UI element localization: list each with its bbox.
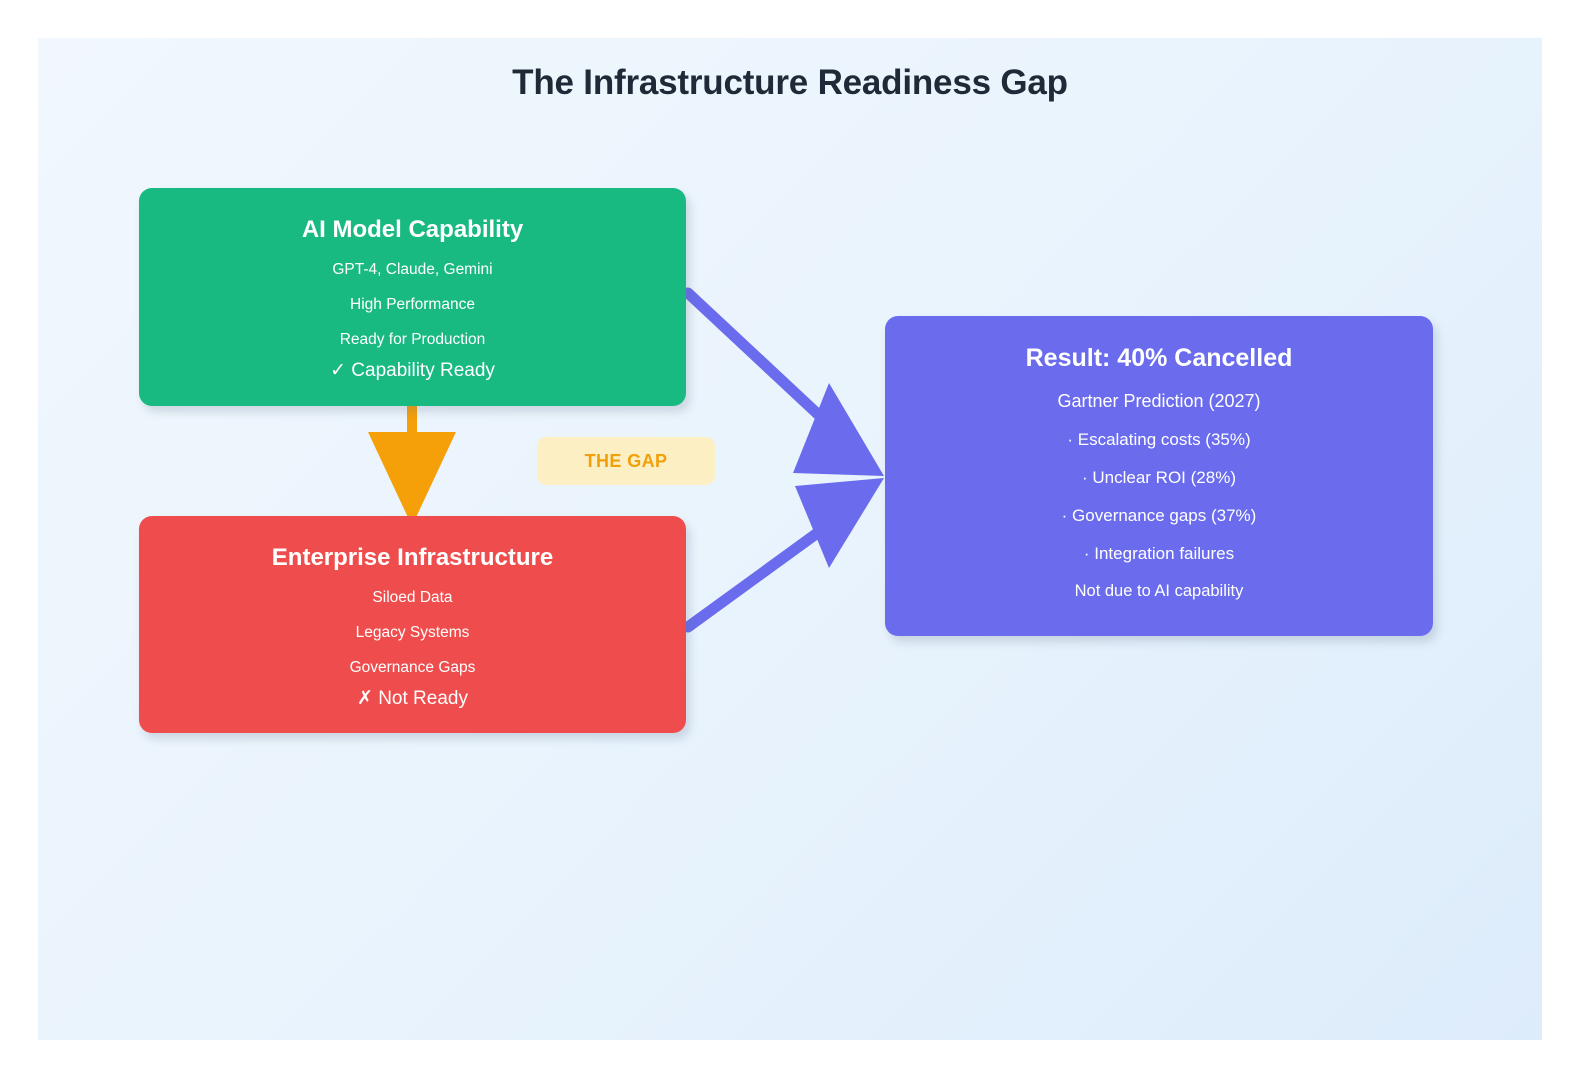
card-result-cancelled: Result: 40% Cancelled Gartner Prediction…: [885, 316, 1433, 636]
card-ai-model-capability: AI Model Capability GPT-4, Claude, Gemin…: [139, 188, 686, 406]
infrastructure-status-badge: ✗ Not Ready: [139, 687, 686, 710]
result-reason-unclear-roi: · Unclear ROI (28%): [885, 468, 1433, 488]
result-reason-escalating-costs: · Escalating costs (35%): [885, 430, 1433, 450]
card-title-infrastructure: Enterprise Infrastructure: [139, 544, 686, 572]
result-footnote: Not due to AI capability: [885, 582, 1433, 601]
result-subtitle-prediction: Gartner Prediction (2027): [885, 391, 1433, 412]
result-reason-governance-gaps: · Governance gaps (37%): [885, 506, 1433, 526]
card-enterprise-infrastructure: Enterprise Infrastructure Siloed Data Le…: [139, 516, 686, 733]
infrastructure-line-legacy-systems: Legacy Systems: [139, 624, 686, 642]
card-title-result: Result: 40% Cancelled: [885, 344, 1433, 373]
infrastructure-to-result-arrow: [688, 478, 884, 627]
downward-gap-arrow: [368, 406, 456, 526]
infrastructure-line-governance-gaps: Governance Gaps: [139, 659, 686, 677]
the-gap-badge: THE GAP: [537, 437, 715, 485]
the-gap-label: THE GAP: [585, 451, 668, 472]
card-title-capability: AI Model Capability: [139, 216, 686, 244]
result-reason-integration-failures: · Integration failures: [885, 544, 1433, 564]
infrastructure-line-siloed-data: Siloed Data: [139, 589, 686, 607]
capability-line-performance: High Performance: [139, 296, 686, 314]
capability-status-badge: ✓ Capability Ready: [139, 359, 686, 382]
page-title: The Infrastructure Readiness Gap: [38, 63, 1542, 103]
capability-to-result-arrow: [688, 293, 884, 476]
capability-line-production: Ready for Production: [139, 331, 686, 349]
diagram-canvas: The Infrastructure Readiness Gap AI Mode…: [38, 38, 1542, 1040]
capability-line-models: GPT-4, Claude, Gemini: [139, 261, 686, 279]
